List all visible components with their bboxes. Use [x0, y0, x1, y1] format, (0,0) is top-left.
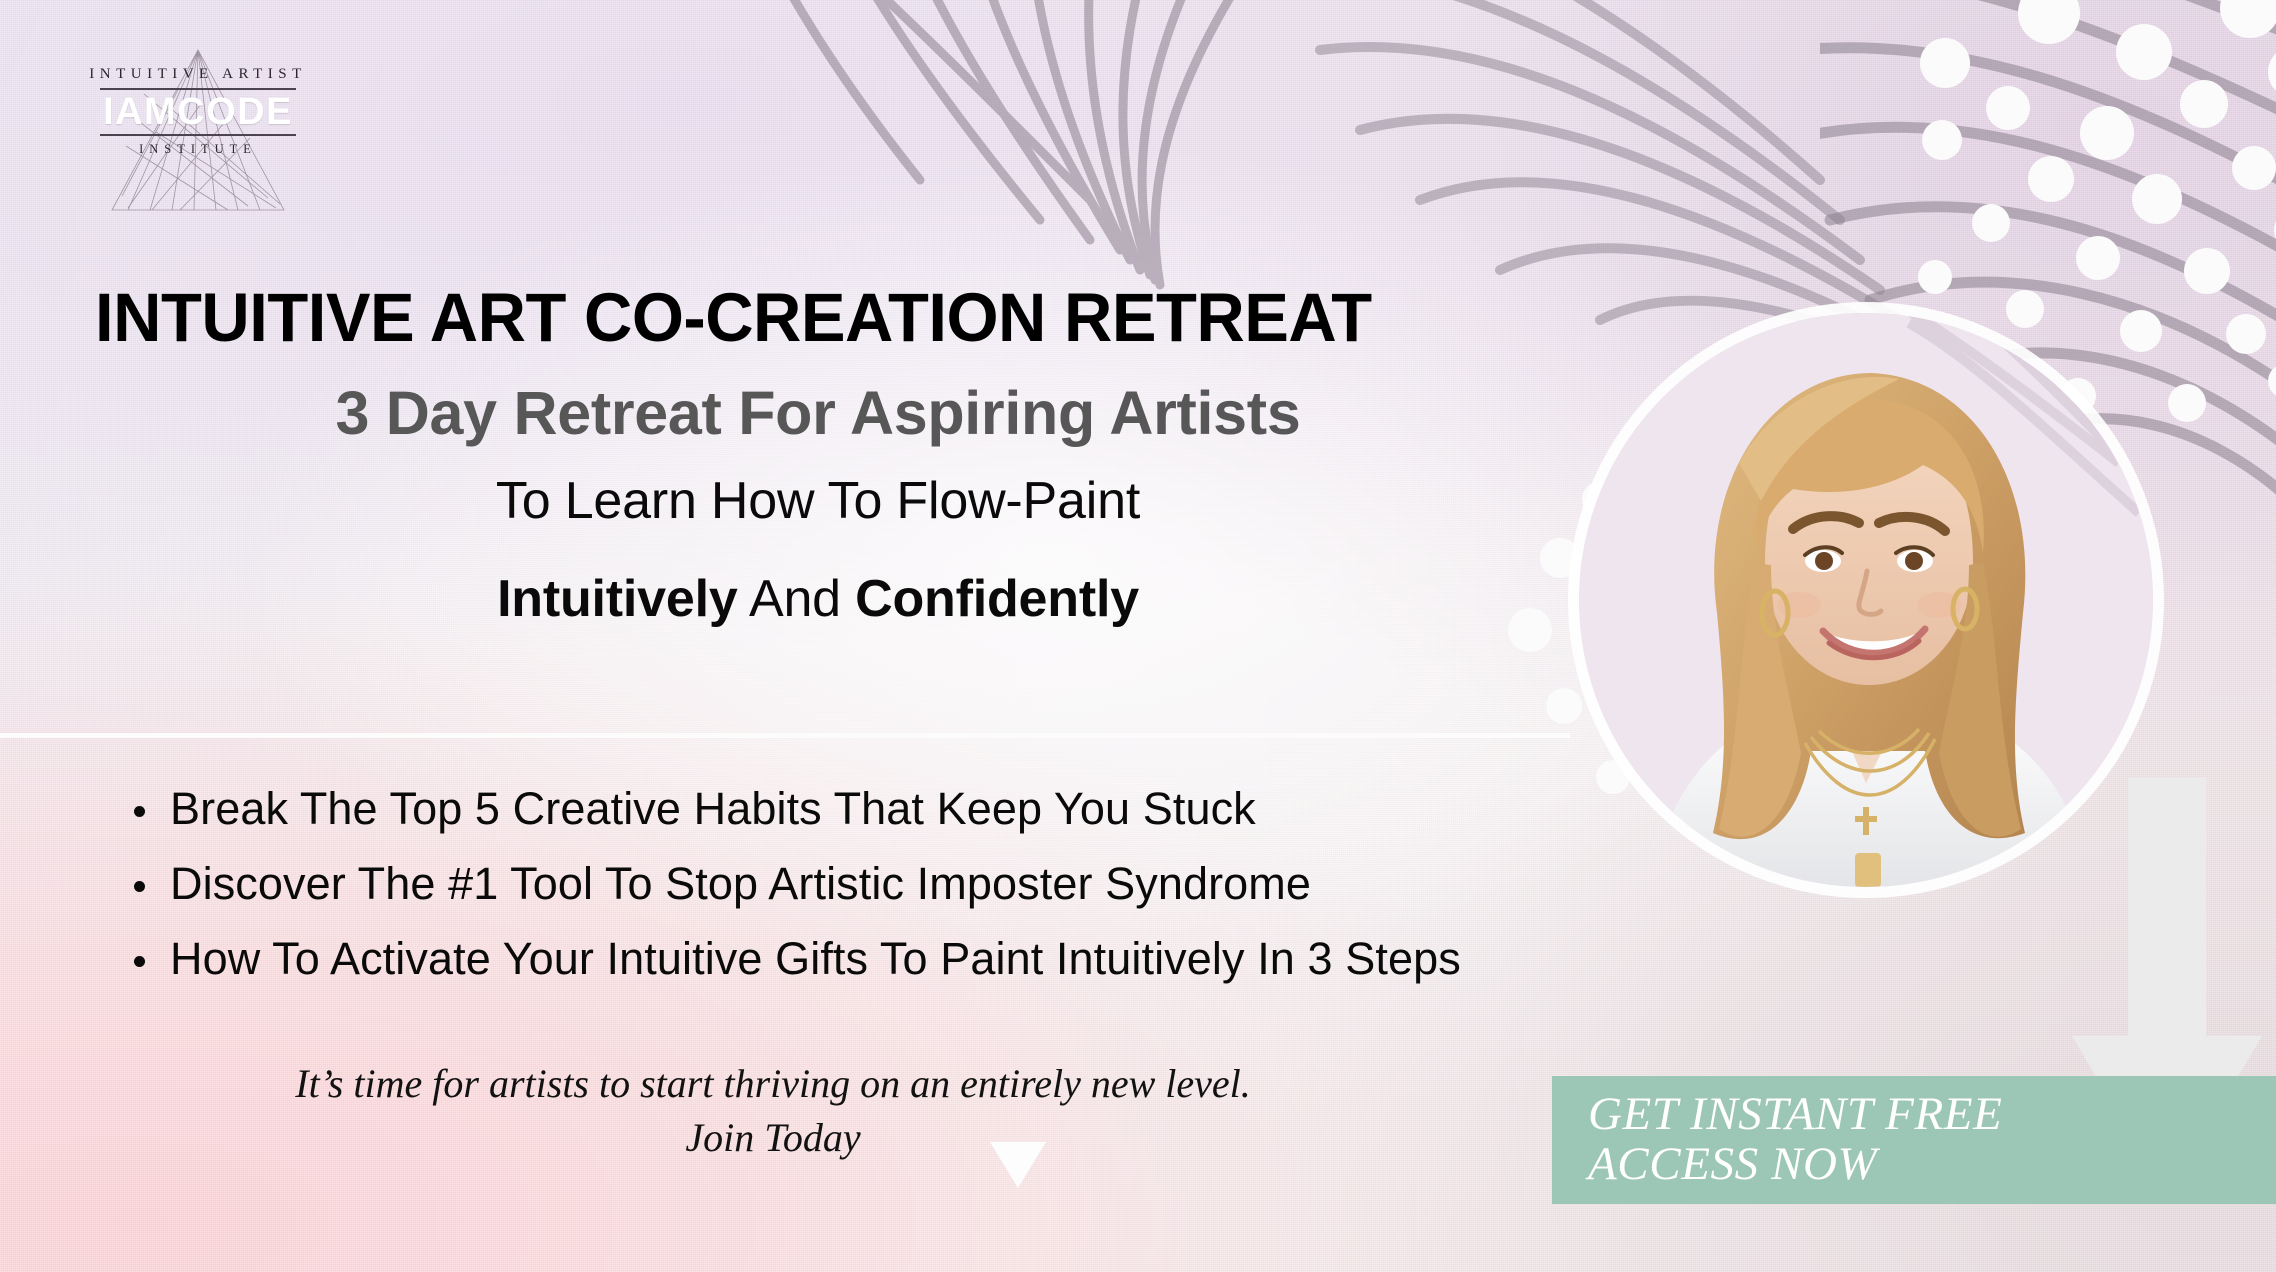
list-item: How To Activate Your Intuitive Gifts To …	[128, 936, 1208, 981]
logo-top-text: INTUITIVE ARTIST	[89, 66, 307, 83]
cta-line-2: ACCESS NOW	[1588, 1140, 2002, 1190]
logo-divider-top	[100, 88, 296, 90]
cta-line-1: GET INSTANT FREE	[1588, 1088, 2002, 1140]
tagline-line-2: Join Today	[0, 1111, 1546, 1165]
list-item: Discover The #1 Tool To Stop Artistic Im…	[128, 861, 1208, 906]
subheading-3-bold-1: Intuitively	[497, 570, 738, 628]
brand-logo[interactable]: INTUITIVE ARTIST IAMCODE INSTITUTE	[78, 40, 318, 215]
cta-label: GET INSTANT FREE ACCESS NOW	[1588, 1090, 2002, 1190]
logo-wordmark: IAMCODE	[103, 93, 293, 132]
subheading-3-mid: And	[738, 570, 856, 628]
cta-button[interactable]: GET INSTANT FREE ACCESS NOW	[1552, 1076, 2276, 1204]
tagline-line-1: It’s time for artists to start thriving …	[295, 1061, 1251, 1106]
logo-divider-bottom	[100, 134, 296, 136]
section-divider	[0, 733, 1570, 738]
benefits-list: Break The Top 5 Creative Habits That Kee…	[128, 786, 1208, 1011]
page-title: INTUITIVE ART CO-CREATION RETREAT	[95, 283, 1094, 352]
subheading-3-bold-2: Confidently	[855, 570, 1139, 628]
list-item: Break The Top 5 Creative Habits That Kee…	[128, 786, 1208, 831]
down-triangle-icon	[990, 1142, 1046, 1188]
logo-sub-text: INSTITUTE	[139, 142, 257, 157]
landing-page-hero: INTUITIVE ARTIST IAMCODE INSTITUTE INTUI…	[0, 0, 2276, 1272]
